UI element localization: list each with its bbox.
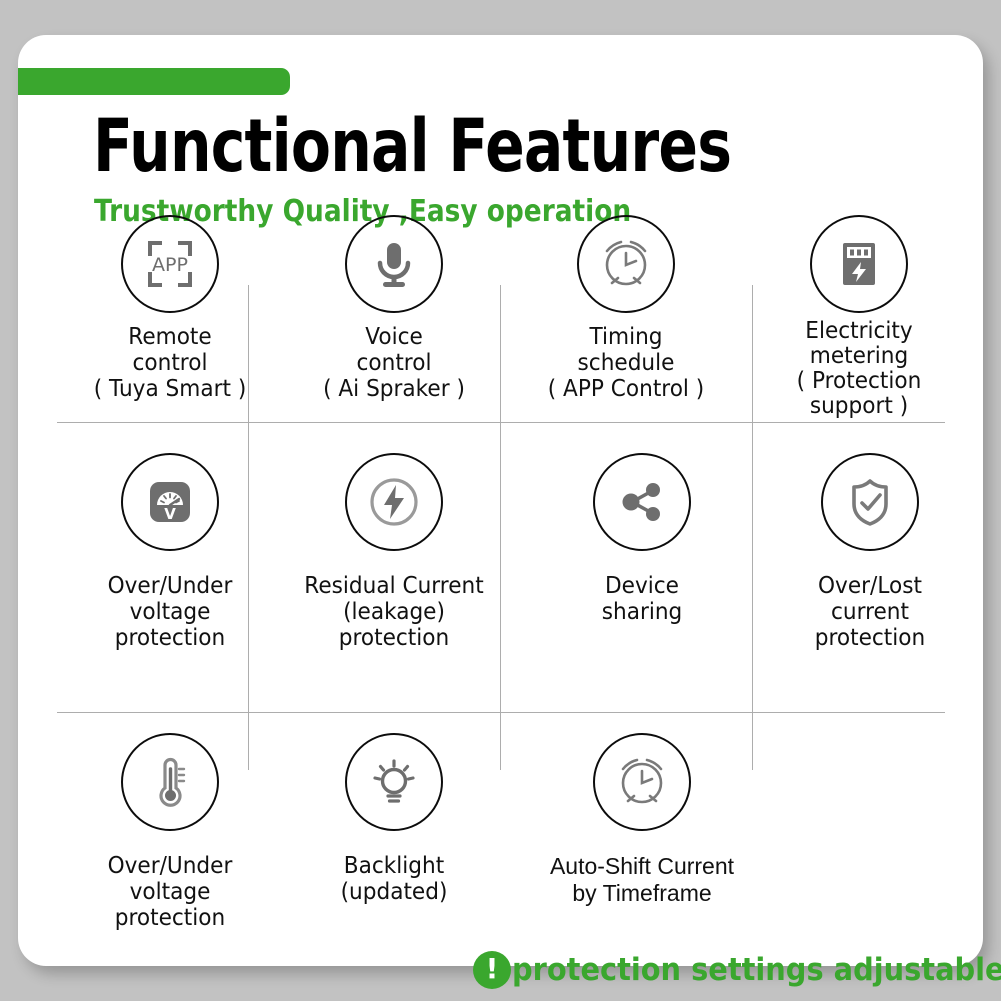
feature-label: Timing schedule ( APP Control ) xyxy=(506,324,747,402)
residual-current-bolt-icon xyxy=(345,453,443,551)
alarm-clock-icon xyxy=(577,215,675,313)
feature-cell-auto-shift-current[interactable]: Auto-Shift Current by Timeframe xyxy=(514,733,770,907)
microphone-icon xyxy=(345,215,443,313)
shield-check-icon xyxy=(821,453,919,551)
feature-label: Over/Under voltage protection xyxy=(50,853,291,931)
feature-cell-over-lost-current[interactable]: Over/Lost current protection xyxy=(742,453,998,651)
row-divider-2 xyxy=(57,712,945,713)
svg-text:V: V xyxy=(164,505,176,523)
feature-cell-device-sharing[interactable]: Device sharing xyxy=(514,453,770,625)
feature-cell-over-under-voltage[interactable]: V Over/Under voltage protection xyxy=(42,453,298,651)
features-grid: APP Remote control ( Tuya Smart ) Voice … xyxy=(18,35,983,966)
feature-card: Functional Features Trustworthy Quality … xyxy=(18,35,983,966)
electricity-meter-icon xyxy=(810,215,908,313)
alarm-clock-icon xyxy=(593,733,691,831)
green-accent-tab xyxy=(18,68,290,95)
light-bulb-icon xyxy=(345,733,443,831)
callout-text: protection settings adjustable xyxy=(512,953,1001,987)
feature-cell-residual-current[interactable]: Residual Current (leakage) protection xyxy=(266,453,522,651)
share-nodes-icon xyxy=(593,453,691,551)
feature-label: Remote control ( Tuya Smart ) xyxy=(50,324,291,402)
exclamation-icon: ! xyxy=(473,951,511,989)
feature-cell-voice-control[interactable]: Voice control ( Ai Spraker ) xyxy=(266,215,522,402)
feature-label: Auto-Shift Current by Timeframe xyxy=(514,853,770,907)
feature-label: Residual Current (leakage) protection xyxy=(274,573,515,651)
thermometer-icon xyxy=(121,733,219,831)
app-scan-icon: APP xyxy=(121,215,219,313)
feature-cell-backlight[interactable]: Backlight (updated) xyxy=(266,733,522,905)
protection-callout: ! protection settings adjustable xyxy=(473,951,1001,989)
feature-cell-timing-schedule[interactable]: Timing schedule ( APP Control ) xyxy=(498,215,754,402)
exclamation-glyph: ! xyxy=(486,955,499,983)
feature-label: Voice control ( Ai Spraker ) xyxy=(274,324,515,402)
feature-cell-over-under-voltage-2[interactable]: Over/Under voltage protection xyxy=(42,733,298,931)
feature-label: Over/Lost current protection xyxy=(750,573,991,651)
feature-label: Electricity metering ( Protection suppor… xyxy=(743,319,974,419)
row-divider-1 xyxy=(57,422,945,423)
feature-label: Over/Under voltage protection xyxy=(50,573,291,651)
svg-text:APP: APP xyxy=(152,254,188,276)
voltmeter-gauge-icon: V xyxy=(121,453,219,551)
feature-label: Backlight (updated) xyxy=(274,853,515,905)
feature-label: Device sharing xyxy=(522,573,763,625)
feature-cell-electricity-metering[interactable]: Electricity metering ( Protection suppor… xyxy=(736,215,982,419)
feature-cell-remote-control[interactable]: APP Remote control ( Tuya Smart ) xyxy=(42,215,298,402)
